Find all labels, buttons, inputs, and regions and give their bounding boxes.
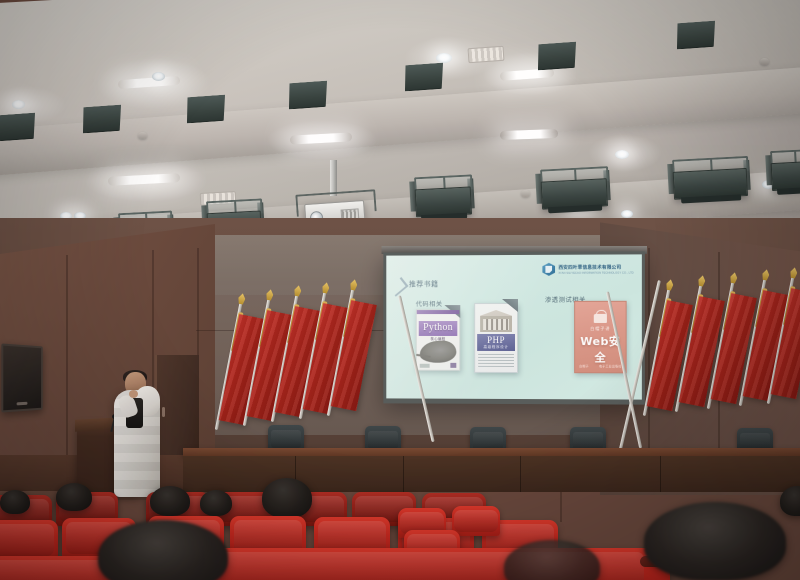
downlight [152, 72, 165, 81]
wall-panel-seam [648, 248, 650, 463]
book-title-php: PHP [477, 335, 515, 345]
rat-illustration-icon [419, 340, 457, 364]
audience-head [780, 486, 800, 516]
ceiling-vent [468, 46, 505, 63]
downlight [615, 150, 629, 159]
track-spotlight [0, 113, 37, 142]
book-publisher-row: 白帽子 电子工业出版社 [579, 363, 621, 368]
book-publisher-left: 白帽子 [579, 364, 589, 368]
track-spotlight [287, 81, 329, 110]
audience-head [262, 478, 312, 518]
book-title-python: Python [419, 322, 458, 333]
smoke-detector-icon [760, 58, 769, 65]
track-spotlight [536, 42, 578, 71]
book-title-band: PHP 高级程序设计 [477, 334, 515, 351]
company-logo: 西安四叶草信息技术有限公司 XI'AN SILIYECAO INFORMATIO… [542, 262, 633, 275]
table-panel-seam [403, 456, 404, 492]
audience-head-foreground [644, 502, 786, 580]
page-corner-icon [502, 299, 518, 312]
presenter [110, 372, 170, 497]
track-spotlight [403, 63, 445, 92]
downlight [12, 100, 25, 109]
audience-head [56, 483, 92, 511]
shield-illustration-icon [594, 314, 607, 323]
book-subtitle-php: 高级程序设计 [477, 345, 515, 350]
audience-head [0, 490, 30, 514]
presentation-slide: 西安四叶草信息技术有限公司 XI'AN SILIYECAO INFORMATIO… [386, 254, 642, 399]
smoke-detector-icon [521, 190, 530, 197]
book-cover-php: PHP 高级程序设计 [474, 303, 518, 373]
table-panel-seam [520, 456, 521, 492]
book-publisher-right: 电子工业出版社 [599, 364, 622, 368]
book-cover-python: Python 核心编程 [416, 309, 460, 371]
track-spotlight [81, 105, 123, 134]
audience-head [200, 490, 232, 516]
chevron-bullet-icon [389, 277, 409, 297]
section-label-code: 代码相关 [416, 299, 443, 308]
wall-display-screen [1, 343, 42, 412]
temple-illustration-icon [480, 310, 512, 332]
table-panel-seam [660, 456, 661, 492]
logo-mark-icon [542, 263, 555, 276]
wall-panel-seam [66, 255, 68, 480]
audience-seat [0, 520, 58, 560]
audience-seat [452, 506, 500, 536]
logo-company-cn: 西安四叶草信息技术有限公司 [558, 264, 633, 270]
track-spotlight [675, 21, 717, 50]
audience-head [150, 486, 190, 516]
logo-company-en: XI'AN SILIYECAO INFORMATION TECHNOLOGY C… [558, 271, 633, 274]
downlight [436, 53, 452, 63]
track-spotlight [185, 95, 227, 124]
downlight [621, 210, 633, 218]
auditorium-photo: 西安四叶草信息技术有限公司 XI'AN SILIYECAO INFORMATIO… [0, 0, 800, 580]
book-subtitle-web: 白帽子讲 [575, 326, 625, 332]
book-topbar [417, 310, 460, 314]
book-text-lines [478, 354, 514, 368]
slide-header-title: 推荐书籍 [409, 279, 439, 289]
smoke-detector-icon [138, 132, 147, 139]
presenter-hand [129, 390, 138, 398]
projection-screen: 西安四叶草信息技术有限公司 XI'AN SILIYECAO INFORMATIO… [383, 251, 645, 404]
book-footer-left [420, 364, 430, 368]
projector-mount-pole [330, 160, 337, 196]
book-footer-right [450, 363, 456, 368]
book-title-band: Python [419, 321, 458, 336]
